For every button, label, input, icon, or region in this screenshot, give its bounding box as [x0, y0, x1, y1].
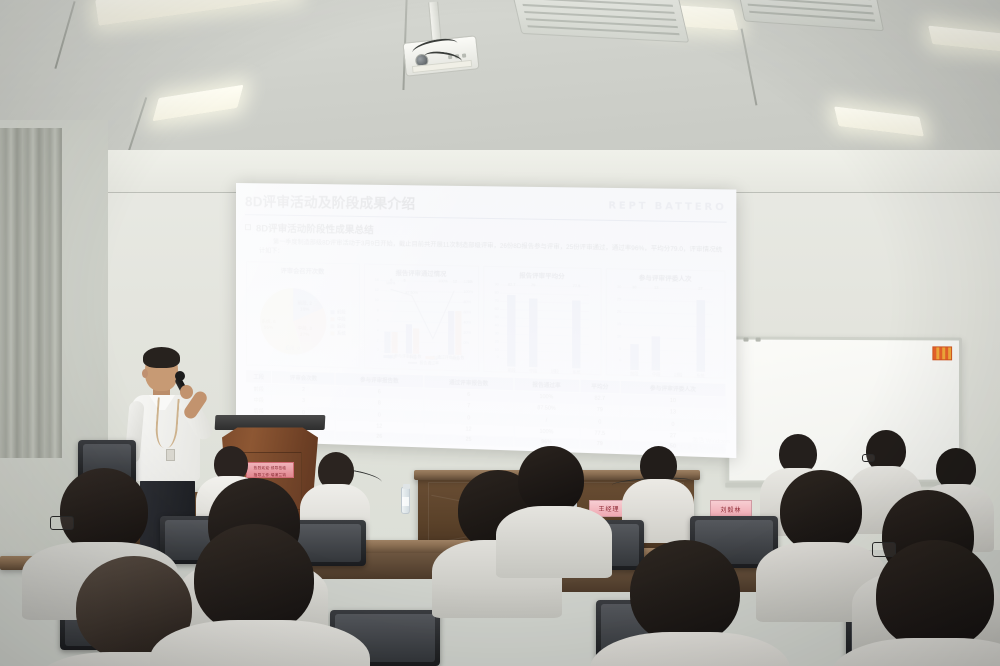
- presenter-hair: [143, 347, 180, 368]
- person-head: [194, 524, 314, 634]
- bar-chart-plot: 14120% 12100% 1080% 860% 640% 420% 20% 0…: [369, 277, 474, 355]
- bar-chart-plot: 30 25 20 15 10 5 0 10 13 0 27: [611, 282, 721, 372]
- line-point-label: 100%: [386, 281, 395, 285]
- bar-group: 10: [630, 291, 639, 370]
- bar-group: 0: [674, 292, 683, 371]
- pie-chart-area: 前段, 2 18% 中段, 3 27% 后段, 0 系统,: [249, 275, 356, 368]
- audience-member: [150, 524, 370, 666]
- eyeglasses: [50, 516, 74, 530]
- bar-group: 79: [529, 289, 537, 367]
- bar-group: 27: [696, 293, 705, 372]
- pie-slice-label-back: 后段, 0: [285, 345, 299, 351]
- person-shoulders: [150, 620, 370, 666]
- pie-slice-label-front: 前段, 2 18%: [297, 300, 311, 312]
- bar-groups: 10 13 0 27: [623, 291, 711, 372]
- bar-group: 0: [551, 289, 559, 367]
- square-bullet-icon: [245, 224, 251, 230]
- microphone-head: [175, 371, 185, 381]
- bar-group: 77.5: [572, 290, 580, 368]
- presenter-ear: [142, 369, 148, 378]
- x-axis-labels: 前段 中段 后段 系统: [623, 370, 711, 379]
- pass-rate-line: [381, 284, 466, 343]
- line-point-label: 100%: [438, 279, 447, 283]
- pie-chart: 前段, 2 18% 中段, 3 27% 后段, 0 系统,: [259, 286, 327, 356]
- chart-review-meeting-count: 评审会召开次数 前段, 2 18% 中段, 3 27%: [246, 261, 359, 368]
- person-shoulders: [830, 638, 1000, 666]
- audience-member: [830, 540, 1000, 666]
- table-header-cell: 工段: [245, 370, 271, 384]
- slide-body-text: 第一季度制造部级8D评审活动于3月9日开始，截止目前共开展11次制造部级评审，2…: [259, 237, 727, 265]
- table-header-cell: 平均分: [579, 379, 620, 394]
- whiteboard-clip: [756, 338, 761, 342]
- pie-legend: 前段 中段 后段 系统: [331, 308, 346, 337]
- chart-legend: 参与评审报告数 通过评审报告数 报告通过率: [371, 354, 474, 368]
- line-point-label: 87.50%: [405, 290, 418, 294]
- presenter-id-badge: [166, 449, 175, 461]
- conference-room-scene: 8D评审活动及阶段成果介绍 REPT BATTERO 8D评审活动阶段性成果总结…: [0, 0, 1000, 666]
- person-shoulders: [590, 632, 790, 666]
- chart-judge-attendance: 参与评审评委人次 30 25 20 15 10 5 0 10 13 0: [605, 268, 725, 378]
- window-curtain: [0, 128, 62, 458]
- person-head: [518, 446, 584, 514]
- slide-header: 8D评审活动及阶段成果介绍 REPT BATTERO: [245, 190, 727, 217]
- chart-average-score: 报告评审平均分 90 80 70 60 50 40 30 20 10 0 82.…: [483, 266, 601, 375]
- whiteboard-clip: [743, 338, 748, 342]
- bar-group: 13: [652, 292, 661, 371]
- bar-group: 82.7: [507, 289, 515, 367]
- x-axis-labels: 前段 中段 后段 系统: [501, 367, 587, 376]
- audience-member: [590, 540, 790, 666]
- presenter-hand: [180, 385, 193, 399]
- section-heading-text: 8D评审活动阶段性成果总结: [256, 220, 374, 236]
- pie-slice-label-system: 系统, 6 55%: [261, 318, 275, 330]
- water-bottle: [401, 487, 410, 514]
- bar-chart-plot: 90 80 70 60 50 40 30 20 10 0 82.7 79: [488, 280, 595, 369]
- person-head: [630, 540, 740, 644]
- pie-slice-label-middle: 中段, 3 27%: [297, 325, 311, 337]
- chart-report-pass-status: 报告评审通过情况 14120% 12100% 1080% 860% 640% 4…: [363, 263, 479, 371]
- company-logo: REPT BATTERO: [608, 200, 726, 213]
- slide-title: 8D评审活动及阶段成果介绍: [245, 190, 415, 213]
- whiteboard-sticker: [932, 346, 952, 360]
- charts-row: 评审会召开次数 前段, 2 18% 中段, 3 27%: [245, 261, 727, 379]
- bar-groups: 82.7 79 0 77.5: [501, 288, 587, 368]
- person-head: [876, 540, 994, 650]
- eyeglasses: [862, 454, 875, 462]
